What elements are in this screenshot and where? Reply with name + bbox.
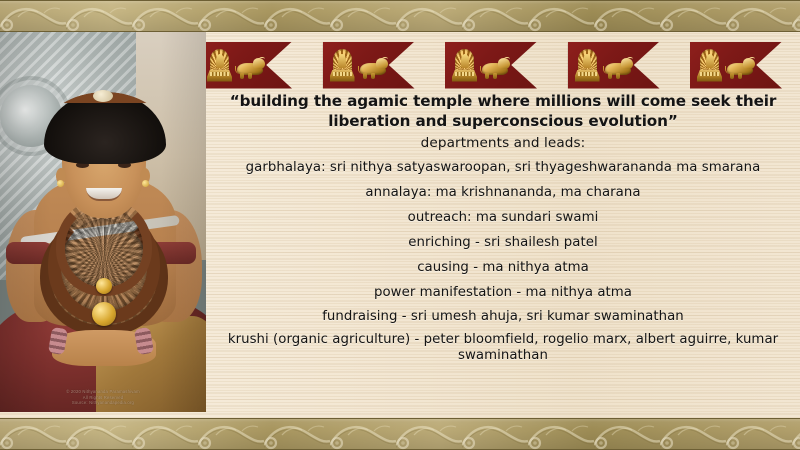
right-earring	[142, 180, 149, 187]
department-item: outreach: ma sundari swami	[206, 209, 800, 226]
ornament-wave-pattern-bottom	[0, 419, 800, 450]
nandi-bull-icon	[235, 57, 265, 79]
temple-flag	[445, 42, 537, 89]
nandi-bull-icon	[358, 57, 388, 79]
department-item: annalaya: ma krishnananda, ma charana	[206, 184, 800, 201]
deity-icon	[330, 49, 355, 82]
department-item: power manifestation - ma nithya atma	[206, 284, 800, 301]
deity-icon	[575, 49, 600, 82]
deity-icon	[452, 49, 477, 82]
deity-icon	[697, 49, 722, 82]
department-item: fundraising - sri umesh ahuja, sri kumar…	[206, 308, 800, 325]
slide-text-content: “building the agamic temple where millio…	[206, 92, 800, 372]
copyright-credit: © 2020 Nithyananda Paramashivam All Righ…	[0, 389, 206, 406]
department-item: krushi (organic agriculture) - peter blo…	[206, 332, 800, 365]
nandi-bull-icon	[480, 57, 510, 79]
departments-heading: departments and leads:	[206, 134, 800, 152]
department-item: garbhalaya: sri nithya satyaswaroopan, s…	[206, 160, 800, 176]
turban-crest-ornament	[93, 90, 113, 102]
temple-flag	[690, 42, 782, 89]
presentation-slide: © 2020 Nithyananda Paramashivam All Righ…	[0, 0, 800, 450]
department-item: enriching - sri shailesh patel	[206, 234, 800, 251]
temple-flag	[323, 42, 415, 89]
deity-icon	[207, 49, 232, 82]
temple-flag	[568, 42, 660, 89]
nandi-bull-icon	[725, 57, 755, 79]
credit-line-3: Source: Nithyanandapedia.org	[0, 400, 206, 406]
guru-portrait-photo: © 2020 Nithyananda Paramashivam All Righ…	[0, 30, 206, 412]
gold-pendant-lower	[92, 302, 116, 326]
ornament-wave-pattern-top	[0, 1, 800, 33]
departments-list: garbhalaya: sri nithya satyaswaroopan, s…	[206, 160, 800, 365]
gold-pendant-upper	[96, 278, 112, 294]
vision-quote: “building the agamic temple where millio…	[206, 92, 800, 131]
department-item: causing - ma nithya atma	[206, 259, 800, 276]
left-earring	[57, 180, 64, 187]
temple-flag	[200, 42, 292, 89]
flag-row	[200, 41, 782, 89]
bottom-ornamental-border	[0, 418, 800, 450]
top-ornamental-border	[0, 0, 800, 32]
nandi-bull-icon	[603, 57, 633, 79]
